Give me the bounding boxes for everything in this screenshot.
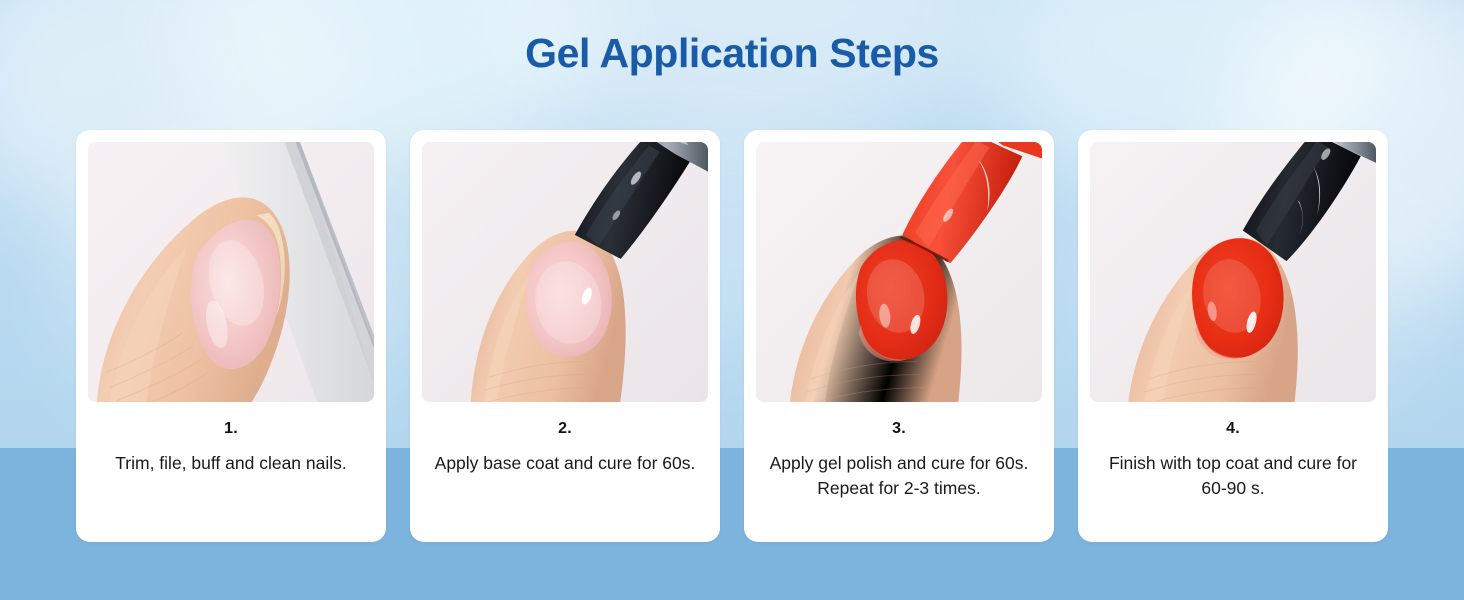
step-number: 4. xyxy=(1226,420,1240,438)
steps-row: 1. Trim, file, buff and clean nails. xyxy=(76,130,1388,542)
base-coat-application-photo xyxy=(422,142,708,402)
step-number: 3. xyxy=(892,420,906,438)
step-description: Finish with top coat and cure for 60-90 … xyxy=(1090,451,1376,501)
step-description: Trim, file, buff and clean nails. xyxy=(111,451,351,476)
step-description: Apply gel polish and cure for 60s. Repea… xyxy=(756,451,1042,501)
step-description: Apply base coat and cure for 60s. xyxy=(431,451,700,476)
step-number: 1. xyxy=(224,420,238,438)
step-card-4: 4. Finish with top coat and cure for 60-… xyxy=(1078,130,1388,542)
top-coat-application-photo xyxy=(1090,142,1376,402)
page-title: Gel Application Steps xyxy=(0,30,1464,77)
nail-filing-photo xyxy=(88,142,374,402)
step-number: 2. xyxy=(558,420,572,438)
step-card-1: 1. Trim, file, buff and clean nails. xyxy=(76,130,386,542)
gel-application-steps-infographic: Gel Application Steps xyxy=(0,0,1464,600)
step-card-2: 2. Apply base coat and cure for 60s. xyxy=(410,130,720,542)
gel-polish-application-photo xyxy=(756,142,1042,402)
step-card-3: 3. Apply gel polish and cure for 60s. Re… xyxy=(744,130,1054,542)
